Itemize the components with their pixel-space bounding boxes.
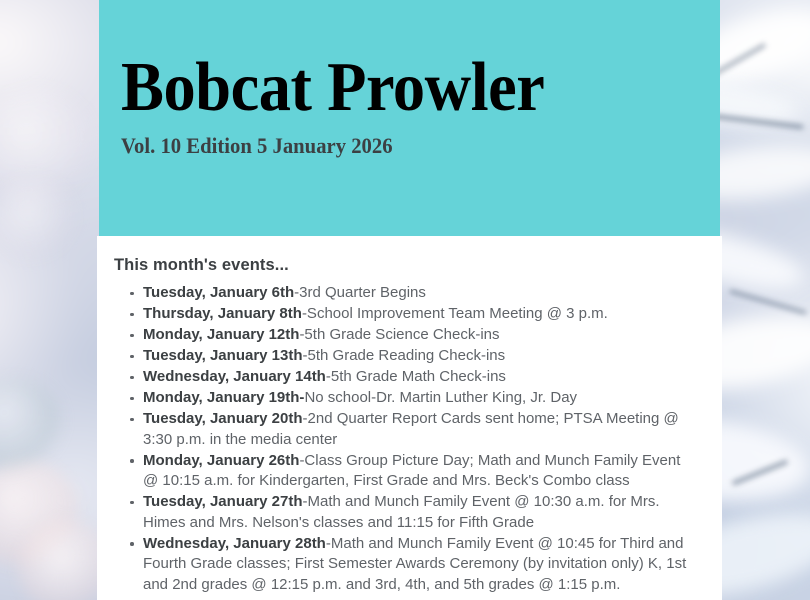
event-list-item: Tuesday, January 20th-2nd Quarter Report… [143,409,700,450]
event-description: -5th Grade Math Check-ins [326,368,506,385]
event-date: Wednesday, January 28th [143,535,326,552]
event-date: Monday, January 12th [143,326,299,343]
event-list-item: Thursday, January 8th-School Improvement… [143,304,700,325]
event-date: Tuesday, January 6th [143,284,294,301]
event-list-item: Monday, January 19th-No school-Dr. Marti… [143,388,700,409]
event-list-item: Tuesday, January 27th-Math and Munch Fam… [143,492,700,533]
event-list-item: Tuesday, January 13th-5th Grade Reading … [143,346,700,367]
event-date: Wednesday, January 14th [143,368,326,385]
event-list-item: Monday, January 12th-5th Grade Science C… [143,325,700,346]
event-list-item: Monday, January 26th-Class Group Picture… [143,451,700,492]
event-description: -3rd Quarter Begins [294,284,426,301]
event-description: -5th Grade Reading Check-ins [303,347,506,364]
event-description: -School Improvement Team Meeting @ 3 p.m… [302,305,608,322]
event-list-item: Wednesday, January 14th-5th Grade Math C… [143,367,700,388]
events-content-panel: This month's events... Tuesday, January … [97,236,722,600]
newsletter-page: Bobcat Prowler Vol. 10 Edition 5 January… [0,0,810,600]
newsletter-edition-line: Vol. 10 Edition 5 January 2026 [121,133,393,159]
newsletter-masthead: Bobcat Prowler Vol. 10 Edition 5 January… [99,0,720,236]
event-date: Tuesday, January 20th [143,410,303,427]
event-description: -5th Grade Science Check-ins [299,326,499,343]
events-heading: This month's events... [114,256,700,275]
newsletter-title: Bobcat Prowler [121,52,544,124]
event-date: Tuesday, January 27th [143,493,303,510]
event-date: Monday, January 19th- [143,389,304,406]
event-list-item: Tuesday, January 6th-3rd Quarter Begins [143,283,700,304]
event-date: Thursday, January 8th [143,305,302,322]
events-list: Tuesday, January 6th-3rd Quarter BeginsT… [114,283,700,595]
event-list-item: Wednesday, January 28th-Math and Munch F… [143,534,700,596]
event-description: No school-Dr. Martin Luther King, Jr. Da… [304,389,577,406]
event-date: Tuesday, January 13th [143,347,303,364]
event-date: Monday, January 26th [143,452,299,469]
